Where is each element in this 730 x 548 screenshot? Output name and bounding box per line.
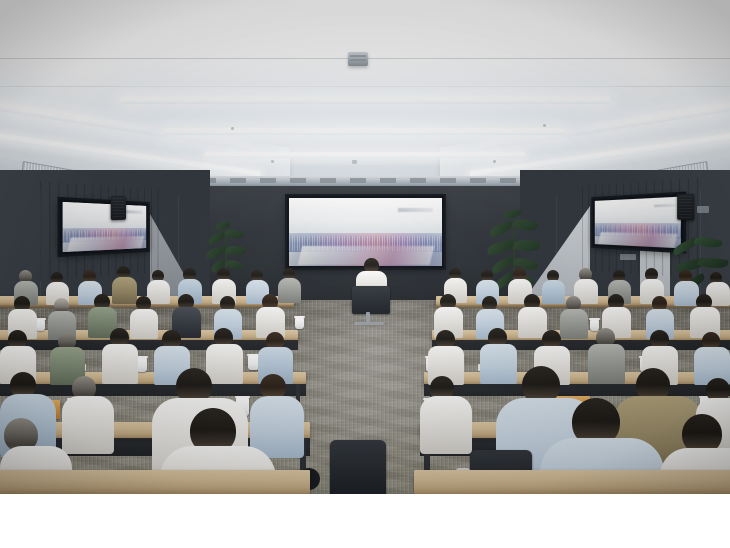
ceiling-light-fixture <box>205 152 525 158</box>
paper-cup <box>590 320 599 331</box>
slide-sky <box>287 196 444 236</box>
main-led-screen[interactable] <box>287 196 444 268</box>
right-led-screen[interactable] <box>593 194 684 251</box>
desk-row6-left <box>0 470 310 494</box>
desk-row4-right <box>424 372 730 384</box>
right-slide <box>593 194 684 251</box>
ceiling-sprinkler-icon <box>231 127 234 130</box>
ceiling-seam <box>0 86 730 87</box>
paper-cup <box>36 320 45 331</box>
wall-speaker-right <box>677 194 694 221</box>
desk-row6-right <box>414 470 730 494</box>
left-slide <box>60 199 148 254</box>
chair <box>330 440 386 494</box>
screenshot-root: 代表 代表 <box>0 0 730 548</box>
ceiling-light-fixture <box>165 128 565 135</box>
chair-base <box>354 322 384 325</box>
ceiling-sensor-icon <box>352 160 357 164</box>
wall-speaker-left <box>111 196 126 220</box>
slide-watermark <box>126 211 143 214</box>
slide-sky <box>593 194 684 226</box>
chair <box>352 286 390 314</box>
desk-modesty-panel <box>424 384 730 396</box>
desk-modesty-panel <box>432 340 730 350</box>
ceiling-projector <box>348 52 368 66</box>
ceiling-sprinkler-icon <box>271 160 274 163</box>
wall-logo-right <box>620 254 636 260</box>
slide-watermark <box>398 208 433 212</box>
desk-modesty-panel <box>0 340 298 350</box>
ceiling-light-fixture <box>120 96 610 104</box>
main-slide <box>287 196 444 268</box>
ceiling-sprinkler-icon <box>493 160 496 163</box>
left-led-screen[interactable] <box>60 199 148 254</box>
wall-sign-right <box>697 206 709 213</box>
ceiling-sprinkler-icon <box>543 124 546 127</box>
paper-cup <box>295 318 304 329</box>
page-bottom-margin <box>0 494 730 548</box>
slide-sky <box>60 199 148 230</box>
conference-room-photo: 代表 代表 <box>0 0 730 494</box>
